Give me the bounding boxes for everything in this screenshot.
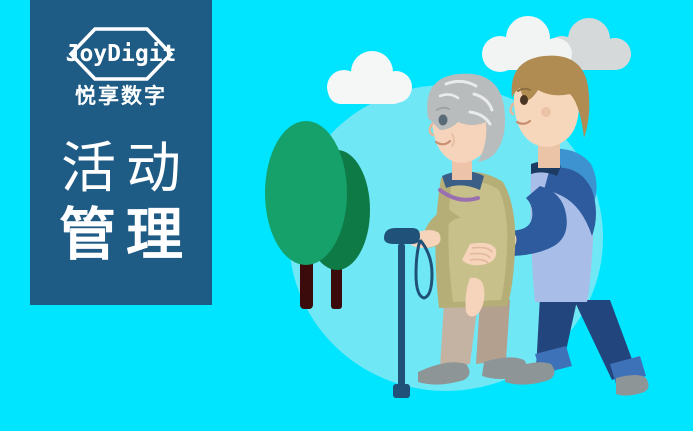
cloud-left — [327, 51, 412, 104]
logo-wordmark: JoyDigit — [66, 26, 177, 82]
page-title: 活动 管理 — [30, 135, 212, 269]
elderly-woman-eye — [439, 115, 448, 126]
logo-chinese-name: 悦享数字 — [75, 86, 167, 107]
young-man-shoe-back — [616, 375, 649, 396]
page-title-line-1: 活动 — [30, 135, 212, 201]
elderly-woman-shoe-back — [482, 357, 528, 379]
brand-logo: JoyDigit — [46, 26, 196, 82]
page-title-line-2: 管理 — [30, 201, 212, 269]
title-panel: JoyDigit 悦享数字 活动 管理 — [30, 0, 212, 305]
poster-canvas: JoyDigit 悦享数字 活动 管理 — [0, 0, 693, 431]
young-man-eye — [520, 95, 528, 105]
